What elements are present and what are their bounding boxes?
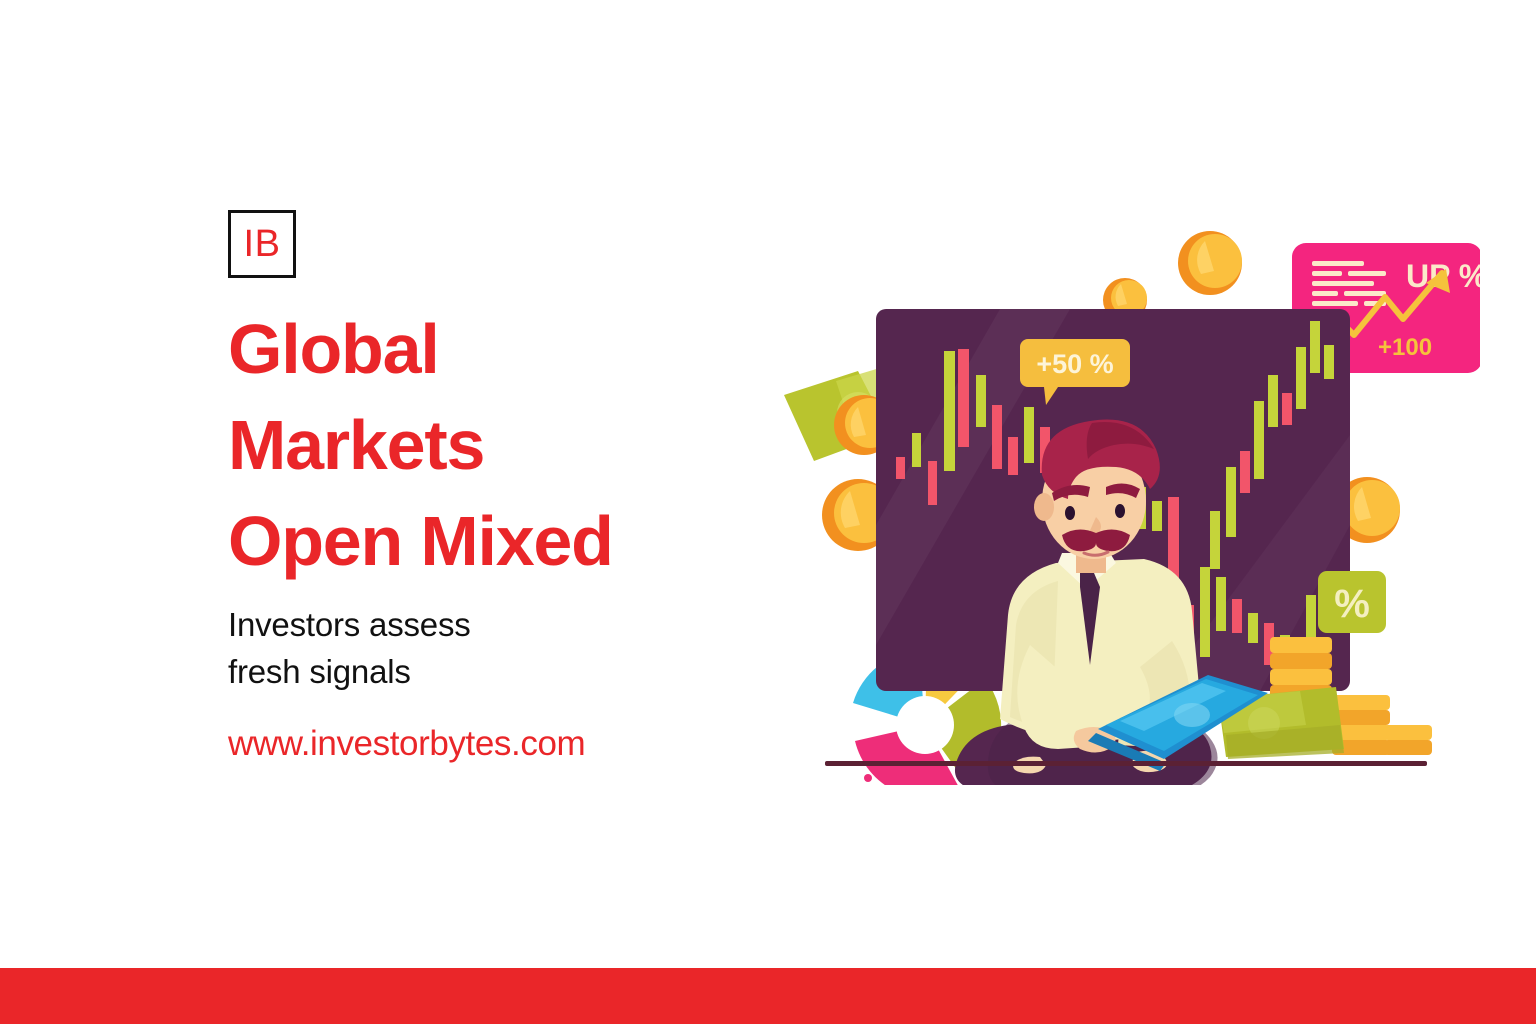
market-illustration: UP % +100 [740, 225, 1480, 785]
headline-line-1: Global [228, 314, 748, 384]
percent-badge-label: % [1334, 582, 1370, 626]
subtitle-line-2: fresh signals [228, 649, 748, 696]
brand-logo[interactable]: IB [228, 210, 296, 278]
headline-line-3: Open Mixed [228, 506, 748, 576]
up-card-value: +100 [1378, 334, 1432, 361]
subtitle-line-1: Investors assess [228, 602, 748, 649]
ground-line [825, 761, 1427, 766]
page-title: Global Markets Open Mixed [228, 314, 748, 576]
percent-badge: % [1318, 571, 1386, 633]
bottom-accent-bar [0, 968, 1536, 1024]
coin-float-large-icon [1178, 231, 1242, 295]
decor-dot-icon [864, 774, 872, 782]
page-subtitle: Investors assess fresh signals [228, 602, 748, 696]
headline-line-2: Markets [228, 410, 748, 480]
website-url[interactable]: www.investorbytes.com [228, 724, 748, 764]
text-content-column: IB Global Markets Open Mixed Investors a… [228, 210, 748, 764]
tooltip-label: +50 % [1036, 349, 1113, 379]
brand-logo-text: IB [244, 225, 281, 263]
